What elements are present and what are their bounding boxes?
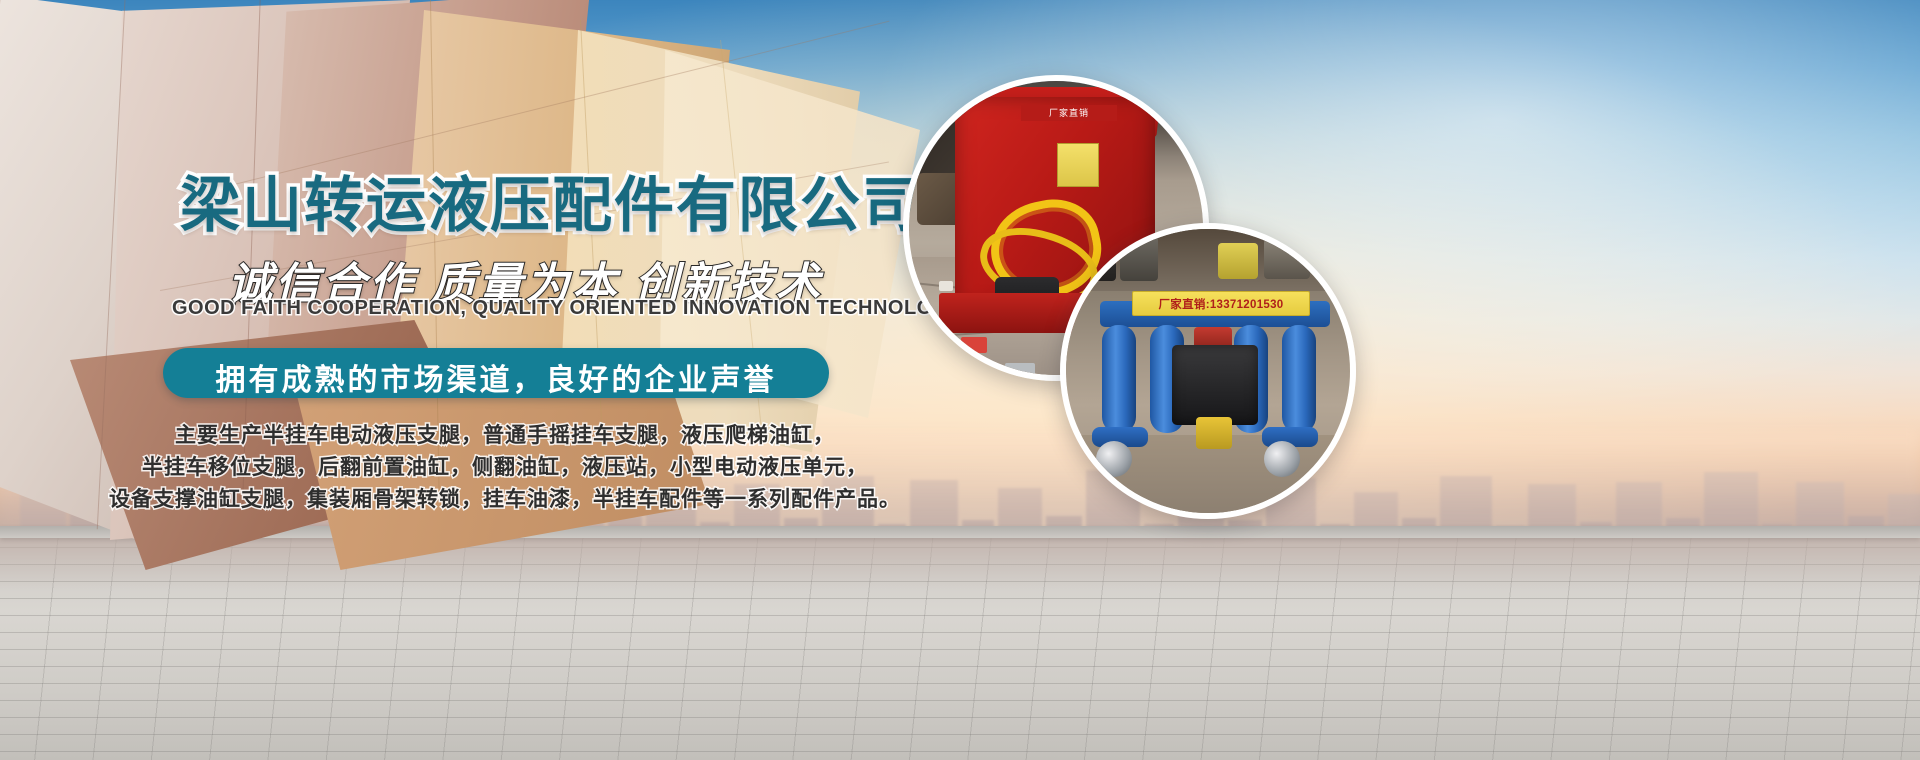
highlight-pill-text: 拥有成熟的市场渠道，良好的企业声誉 xyxy=(163,355,829,399)
yard-clutter xyxy=(1264,239,1310,279)
phone-number-text: 厂家直销:13371201530 xyxy=(1159,296,1284,312)
blue-machine-scene: 厂家直销:13371201530 xyxy=(1066,229,1350,513)
text-content-block: 梁山转运液压配件有限公司 诚信合作 质量为本 创新技术 GOOD FAITH C… xyxy=(0,0,900,760)
floor-litter xyxy=(961,337,987,353)
yard-clutter xyxy=(1120,235,1158,281)
yellow-warning-plate xyxy=(1057,143,1099,187)
control-box xyxy=(1172,345,1258,425)
description-line-2: 半挂车移位支腿，后翻前置油缸，侧翻油缸，液压站，小型电动液压单元， xyxy=(0,452,1010,484)
hydraulic-leg xyxy=(1282,325,1316,433)
machine-brand-label: 厂家直销 xyxy=(1021,105,1117,121)
product-description: 主要生产半挂车电动液压支腿，普通手摇挂车支腿，液压爬梯油缸， 半挂车移位支腿，后… xyxy=(0,420,1010,516)
caster-wheel xyxy=(1264,441,1300,477)
highlight-pill: 拥有成熟的市场渠道，良好的企业声誉 xyxy=(163,348,829,398)
caster-wheel xyxy=(1096,441,1132,477)
phone-number-sign: 厂家直销:13371201530 xyxy=(1132,291,1310,316)
floor-litter xyxy=(1005,363,1035,377)
hydraulic-leg xyxy=(1102,325,1136,433)
english-tagline: GOOD FAITH COOPERATION, QUALITY ORIENTED… xyxy=(172,297,963,320)
company-title: 梁山转运液压配件有限公司 xyxy=(180,157,924,244)
product-photo-blue-machine: 厂家直销:13371201530 xyxy=(1060,223,1356,519)
hydraulic-tank xyxy=(1196,417,1232,449)
description-line-1: 主要生产半挂车电动液压支腿，普通手摇挂车支腿，液压爬梯油缸， xyxy=(0,420,1010,452)
promotional-banner: 梁山转运液压配件有限公司 诚信合作 质量为本 创新技术 GOOD FAITH C… xyxy=(0,0,1920,760)
yard-clutter xyxy=(1072,235,1116,281)
floor-litter xyxy=(939,281,953,291)
description-line-3: 设备支撑油缸支腿，集装厢骨架转锁，挂车油漆，半挂车配件等一系列配件产品。 xyxy=(0,484,1010,516)
yard-clutter xyxy=(1218,243,1258,279)
